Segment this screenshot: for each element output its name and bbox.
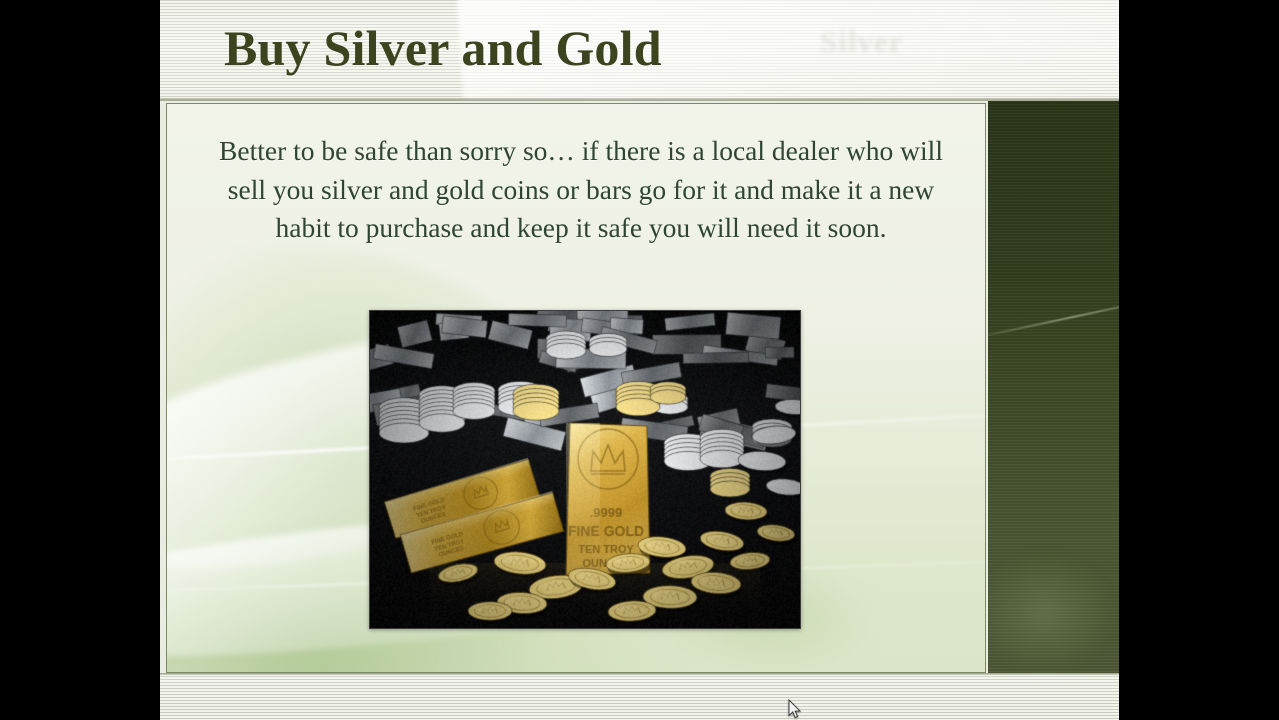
- mouse-cursor-icon: [788, 699, 802, 719]
- bullion-photo: [369, 310, 801, 629]
- previous-slide-ghost-text: Silver: [820, 24, 1070, 66]
- bullion-photo-canvas: [370, 311, 801, 629]
- slide-footer-band: [160, 673, 1119, 720]
- slide-accent-column: [988, 101, 1119, 673]
- slide-content-panel: Better to be safe than sorry so… if ther…: [166, 103, 986, 673]
- letterbox-right: [1119, 0, 1279, 720]
- presentation-slide: Silver Buy Silver and Gold Better to be …: [160, 0, 1119, 720]
- accent-glow: [988, 533, 1119, 673]
- slide-title: Buy Silver and Gold: [224, 19, 662, 77]
- letterbox-left: [0, 0, 160, 720]
- slide-body-text: Better to be safe than sorry so… if ther…: [207, 132, 955, 248]
- screen: Silver Buy Silver and Gold Better to be …: [0, 0, 1279, 720]
- header-bottom-edge: [160, 98, 1119, 101]
- accent-streak: [988, 292, 1119, 342]
- footer-top-edge: [160, 673, 1119, 675]
